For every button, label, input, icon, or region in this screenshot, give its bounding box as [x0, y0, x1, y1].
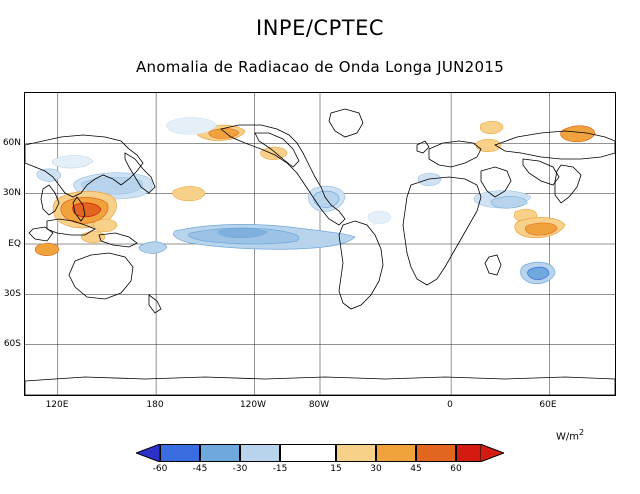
colorbar-seg-45-60	[416, 444, 456, 462]
colorbar-tick-15: 15	[321, 464, 351, 474]
xtick-120W: 120W	[233, 400, 273, 410]
colorbar-tick-60: 60	[441, 464, 471, 474]
ytick-60N: 60N	[0, 138, 21, 148]
colorbar: -60 -45 -30 -15 15 30 45 60	[136, 444, 504, 462]
colorbar-tick--15: -15	[265, 464, 295, 474]
page-title: INPE/CPTEC	[0, 16, 640, 40]
ytick-EQ: EQ	[0, 239, 21, 249]
ytick-60S: 60S	[0, 339, 21, 349]
chart-subtitle: Anomalia de Radiacao de Onda Longa JUN20…	[0, 58, 640, 76]
colorbar-seg-60-plus	[456, 444, 480, 462]
colorbar-seg-15-30	[336, 444, 376, 462]
map-plot-area: 60N 30N EQ 30S 60S	[24, 92, 616, 396]
unit-exponent: 2	[579, 428, 584, 437]
unit-text: W/m	[556, 431, 579, 442]
colorbar-seg--60--45	[160, 444, 200, 462]
colorbar-seg--45--30	[200, 444, 240, 462]
colorbar-seg-30-45	[376, 444, 416, 462]
xtick-80W: 80W	[299, 400, 339, 410]
colorbar-tick-45: 45	[401, 464, 431, 474]
colorbar-tick--30: -30	[225, 464, 255, 474]
colorbar-seg--15-15	[280, 444, 336, 462]
xtick-0: 0	[430, 400, 470, 410]
ytick-30S: 30S	[0, 289, 21, 299]
world-map-svg	[25, 93, 615, 395]
ytick-30N: 30N	[0, 188, 21, 198]
radiation-anomaly-chart: INPE/CPTEC Anomalia de Radiacao de Onda …	[0, 0, 640, 494]
xtick-60E: 60E	[528, 400, 568, 410]
colorbar-tick-30: 30	[361, 464, 391, 474]
colorbar-unit-label: W/m2	[556, 428, 584, 442]
xtick-180: 180	[135, 400, 175, 410]
colorbar-seg--30--15	[240, 444, 280, 462]
xtick-120E: 120E	[37, 400, 77, 410]
colorbar-tick--60: -60	[145, 464, 175, 474]
colorbar-tick--45: -45	[185, 464, 215, 474]
